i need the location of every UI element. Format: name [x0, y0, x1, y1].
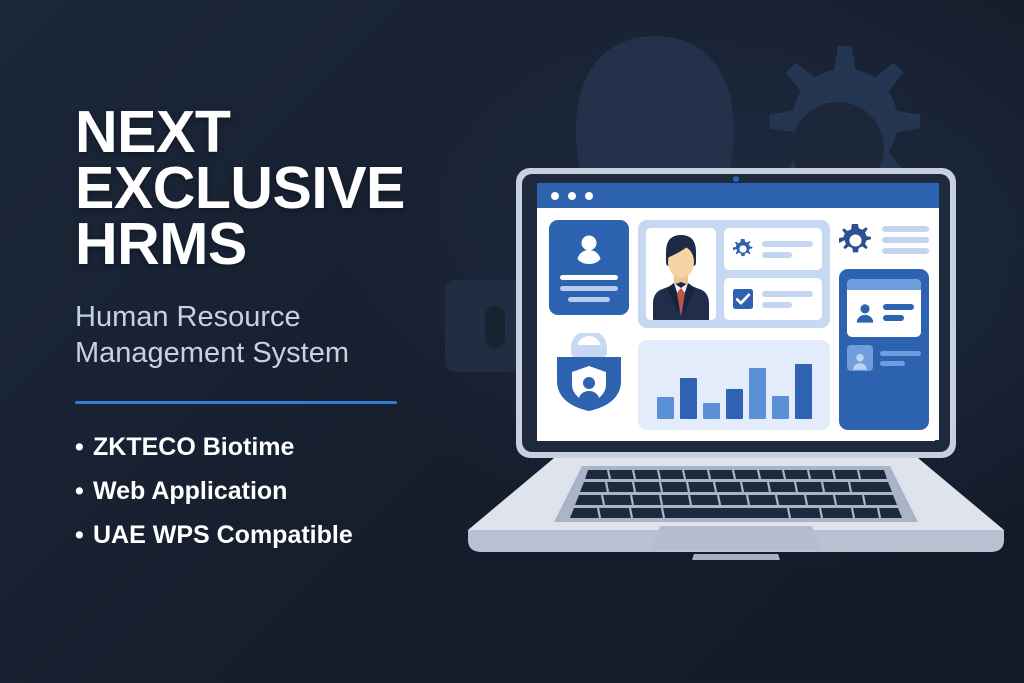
- poster-canvas: NEXT EXCLUSIVE HRMS Human Resource Manag…: [0, 0, 1024, 683]
- page-title: NEXT EXCLUSIVE HRMS: [75, 104, 435, 272]
- employee-profile-card[interactable]: [549, 220, 629, 315]
- employee-meta-column: [724, 228, 822, 320]
- approval-lines: [762, 291, 813, 308]
- settings-lines: [762, 241, 813, 258]
- employee-id-badge-card[interactable]: [839, 269, 929, 430]
- chart-bar: [772, 396, 789, 419]
- list-item-label: ZKTECO Biotime: [93, 435, 294, 460]
- employee-detail-panel[interactable]: [638, 220, 830, 328]
- detail-line: [882, 248, 929, 254]
- gear-icon: [733, 239, 753, 259]
- profile-line: [560, 286, 618, 291]
- user-avatar-icon: [572, 231, 606, 265]
- subtitle: Human Resource Management System: [75, 300, 435, 371]
- detail-line: [882, 226, 929, 232]
- settings-detail-lines: [882, 226, 929, 254]
- window-dot-icon: [551, 192, 559, 200]
- badge-avatar-icon: [854, 302, 876, 324]
- list-item: • ZKTECO Biotime: [75, 435, 435, 460]
- badge-bottom-lines: [880, 351, 921, 366]
- meta-line: [762, 291, 813, 297]
- employee-portrait-icon: [646, 228, 716, 320]
- profile-line: [560, 275, 618, 280]
- list-item-label: UAE WPS Compatible: [93, 523, 353, 548]
- list-item-label: Web Application: [93, 479, 287, 504]
- headline-line-1: NEXT: [75, 104, 435, 160]
- settings-row[interactable]: [724, 228, 822, 270]
- settings-gear-row[interactable]: [839, 220, 929, 260]
- badge-top: [847, 279, 921, 337]
- secure-access-icon: [551, 333, 627, 411]
- badge-line: [880, 361, 905, 366]
- subtitle-line-1: Human Resource: [75, 300, 435, 335]
- chart-bar: [726, 389, 743, 419]
- badge-lines: [883, 304, 914, 321]
- dashboard-body: [537, 208, 939, 440]
- divider: [75, 401, 397, 404]
- badge-line: [883, 315, 904, 321]
- window-dot-icon: [568, 192, 576, 200]
- chart-bar: [749, 368, 766, 419]
- attendance-bar-chart[interactable]: [638, 340, 830, 430]
- window-dot-icon: [585, 192, 593, 200]
- badge-line: [883, 304, 914, 310]
- badge-thumb-avatar-icon: [850, 351, 870, 371]
- bullet-marker: •: [75, 435, 93, 460]
- feature-list: • ZKTECO Biotime • Web Application • UAE…: [75, 435, 435, 548]
- hero-text-column: NEXT EXCLUSIVE HRMS Human Resource Manag…: [75, 104, 435, 567]
- chart-bar: [703, 403, 720, 419]
- chart-bar: [680, 378, 697, 419]
- list-item: • UAE WPS Compatible: [75, 523, 435, 548]
- badge-thumb: [847, 345, 873, 371]
- chart-bar: [795, 364, 812, 419]
- base-notch: [692, 554, 780, 560]
- trackpad: [650, 526, 822, 550]
- badge-bottom: [847, 345, 921, 371]
- subtitle-line-2: Management System: [75, 336, 435, 371]
- list-item: • Web Application: [75, 479, 435, 504]
- hrms-dashboard-screen: [537, 183, 939, 440]
- bullet-marker: •: [75, 523, 93, 548]
- meta-line: [762, 241, 813, 247]
- gear-icon: [839, 224, 872, 257]
- dashboard-right-column: [839, 220, 929, 430]
- profile-line: [568, 297, 609, 302]
- dashboard-left-column: [549, 220, 629, 430]
- dashboard-middle-column: [638, 220, 830, 430]
- secure-access-wrapper[interactable]: [549, 328, 629, 411]
- checkbox-icon: [733, 289, 753, 309]
- webcam-icon: [733, 176, 739, 182]
- headline-line-3: HRMS: [75, 216, 435, 272]
- meta-line: [762, 302, 792, 308]
- bullet-marker: •: [75, 479, 93, 504]
- meta-line: [762, 252, 792, 258]
- detail-line: [882, 237, 929, 243]
- profile-lines: [560, 275, 618, 302]
- approval-row[interactable]: [724, 278, 822, 320]
- headline-line-2: EXCLUSIVE: [75, 160, 435, 216]
- employee-photo: [646, 228, 716, 320]
- chart-bar: [657, 397, 674, 419]
- browser-titlebar: [537, 183, 939, 208]
- badge-line: [880, 351, 921, 356]
- badge-header-strip: [847, 279, 921, 290]
